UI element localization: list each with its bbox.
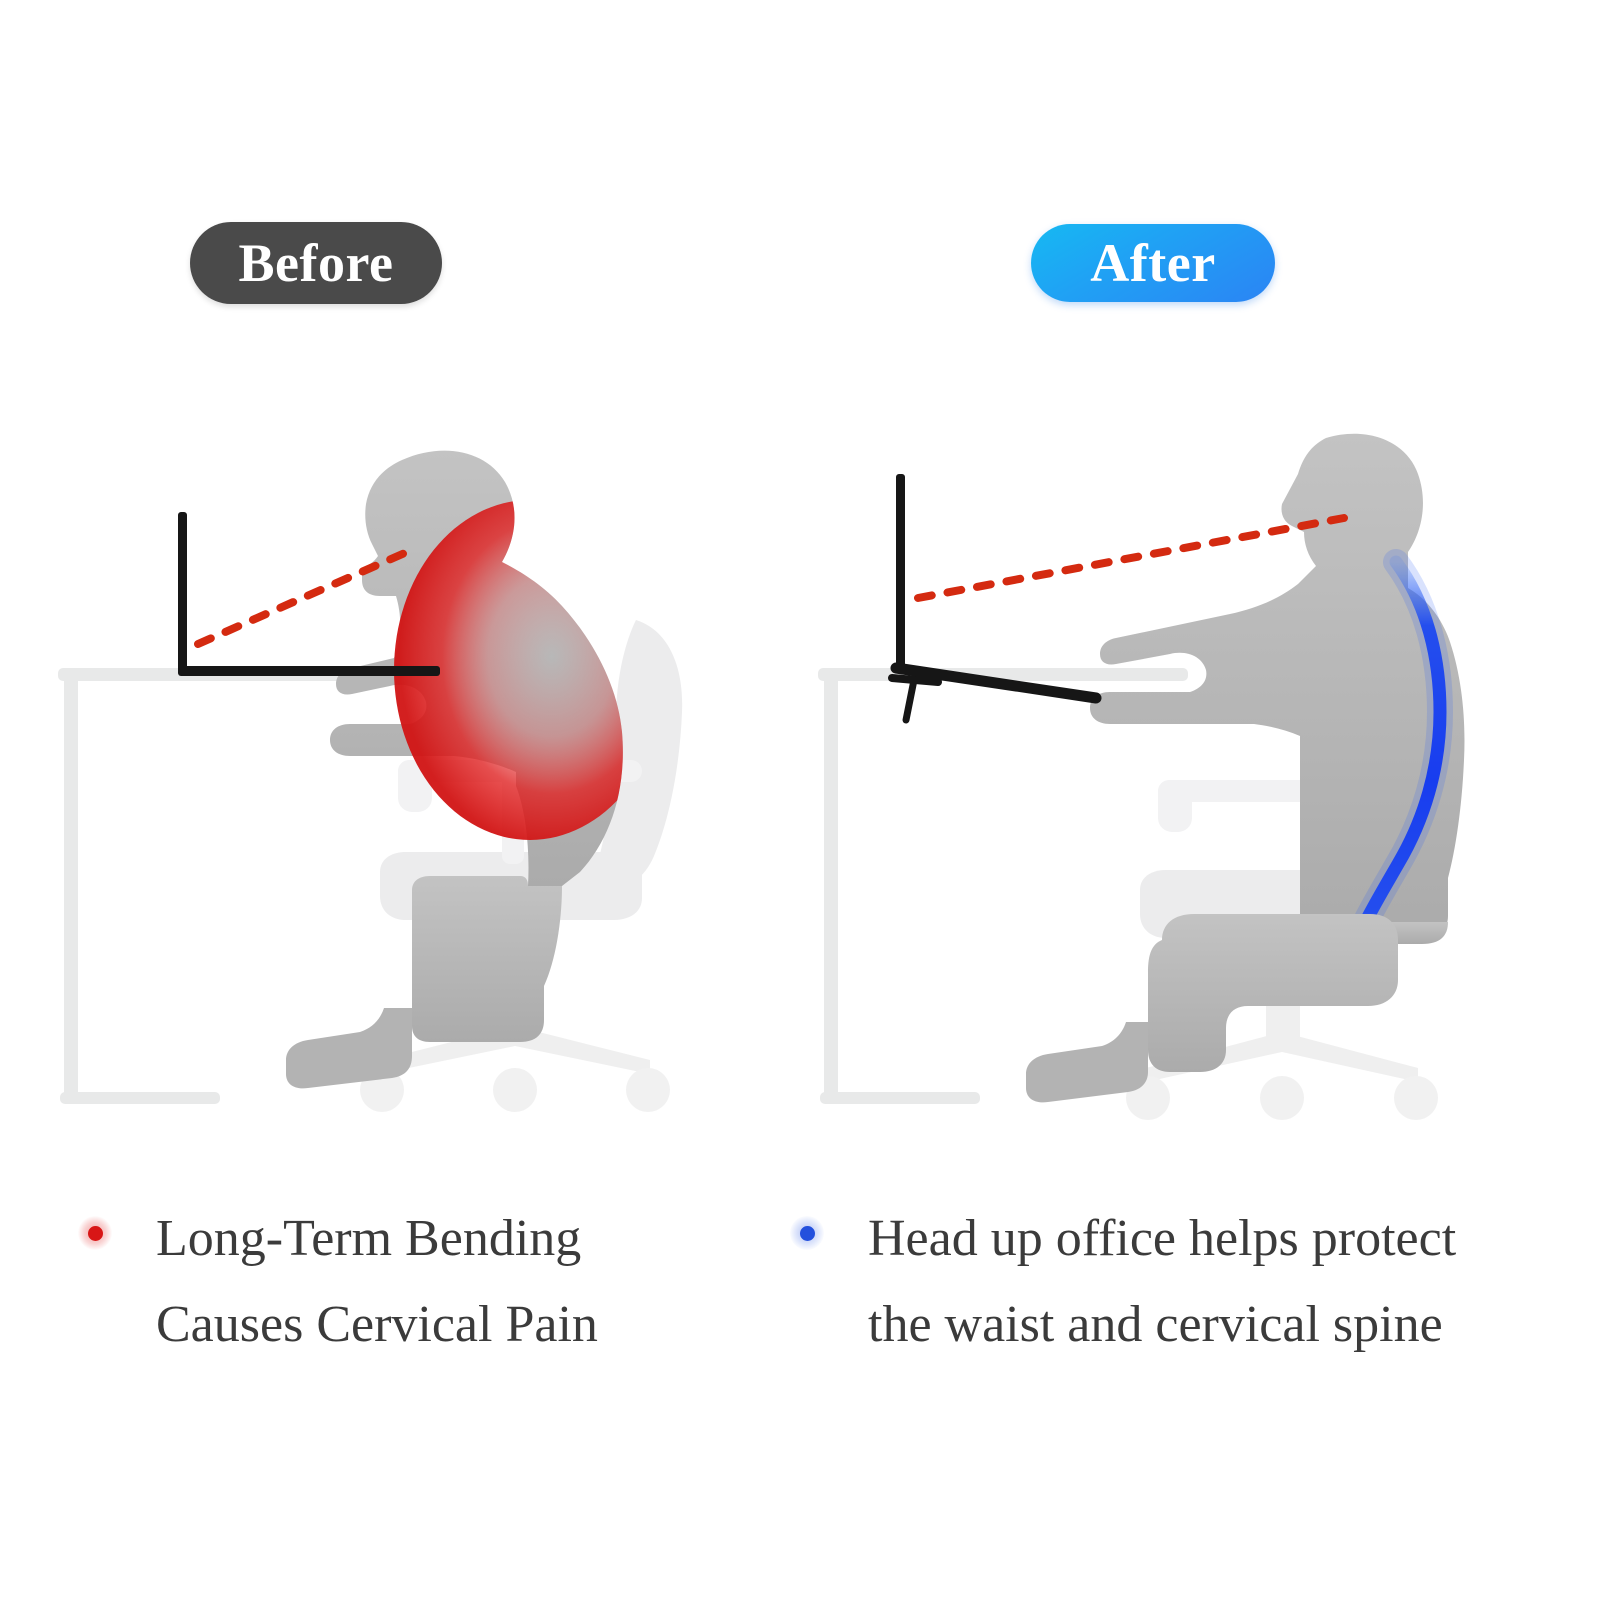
bullet-blue-icon	[790, 1216, 824, 1250]
caption-after-text: Head up office helps protect the waist a…	[868, 1196, 1456, 1368]
caption-after-line-1: Head up office helps protect	[868, 1196, 1456, 1282]
bullet-core	[800, 1226, 815, 1241]
bullet-core	[88, 1226, 103, 1241]
illustration-after	[810, 420, 1570, 1160]
bullet-red-icon	[78, 1216, 112, 1250]
caption-before-text: Long-Term Bending Causes Cervical Pain	[156, 1196, 598, 1368]
badge-after: After	[1031, 224, 1275, 302]
caption-before-line-1: Long-Term Bending	[156, 1196, 598, 1282]
person-hunched	[286, 451, 666, 1089]
caption-after: Head up office helps protect the waist a…	[790, 1196, 1530, 1368]
infographic-root: Before After	[0, 0, 1600, 1600]
caption-after-line-2: the waist and cervical spine	[868, 1282, 1456, 1368]
gaze-line-after	[918, 518, 1344, 598]
caption-before-line-2: Causes Cervical Pain	[156, 1282, 598, 1368]
illustration-before	[50, 420, 810, 1160]
caption-before: Long-Term Bending Causes Cervical Pain	[78, 1196, 738, 1368]
badge-before: Before	[190, 222, 442, 304]
